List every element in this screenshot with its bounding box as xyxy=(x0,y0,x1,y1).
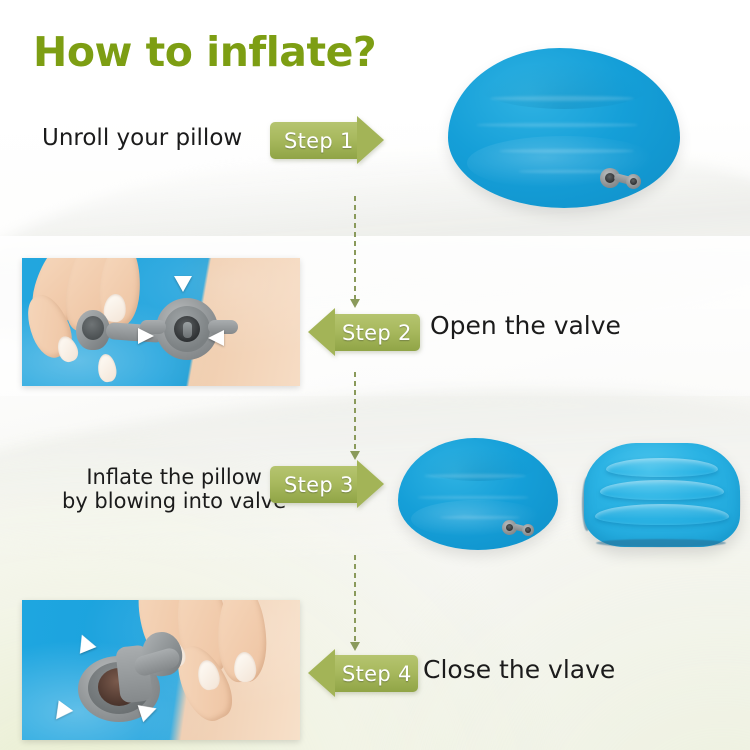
step-1-media xyxy=(448,48,680,208)
step-1-badge-label: Step 1 xyxy=(284,129,354,153)
pillow-valve xyxy=(502,520,536,537)
pillow-wrinkle xyxy=(424,474,526,478)
step-2-arrow-head-icon xyxy=(308,308,335,356)
step-2-caption: Open the valve xyxy=(430,312,621,340)
pillow-wrinkle xyxy=(417,496,529,499)
step-3-caption: Inflate the pillow by blowing into valve xyxy=(62,466,286,513)
deflated-pillow xyxy=(448,48,680,208)
step-4-badge[interactable]: Step 4 xyxy=(308,655,418,692)
step-2-media xyxy=(22,258,300,386)
inflated-pillow xyxy=(584,443,740,547)
step-4-badge-label: Step 4 xyxy=(342,662,412,686)
step-3-badge[interactable]: Step 3 xyxy=(270,466,384,503)
step-2-badge-label: Step 2 xyxy=(342,321,412,345)
connector-2-arrow-icon xyxy=(350,451,360,460)
step-1-badge[interactable]: Step 1 xyxy=(270,122,384,159)
pillow-wrinkle xyxy=(440,516,520,519)
arrow-down-icon xyxy=(174,276,192,292)
connector-1-arrow-icon xyxy=(350,299,360,308)
valve-stem xyxy=(183,322,192,338)
step-1-arrow-head-icon xyxy=(357,116,384,164)
step-4-arrow-head-icon xyxy=(308,649,335,697)
valve-cap-hole-icon xyxy=(630,178,637,185)
connector-1 xyxy=(354,196,356,300)
pillow-ridge xyxy=(600,480,725,500)
step-3-arrow-head-icon xyxy=(357,460,384,508)
pillow-valve xyxy=(600,168,644,190)
step-3-media-deflated xyxy=(398,438,558,550)
pillow-wrinkle xyxy=(499,149,634,153)
pillow-wrinkle xyxy=(490,96,634,101)
step-3-media-inflated xyxy=(578,443,746,553)
pillow-wrinkle xyxy=(476,123,638,127)
step-2-badge[interactable]: Step 2 xyxy=(308,314,420,351)
page-title: How to inflate? xyxy=(33,28,376,76)
infographic-canvas: How to inflate? Unroll your pillow Step … xyxy=(0,0,750,750)
pillow-ridge xyxy=(595,504,729,525)
arrow-left-icon xyxy=(208,330,224,346)
step-4-caption: Close the vlave xyxy=(423,656,615,684)
connector-3 xyxy=(354,555,356,643)
connector-3-arrow-icon xyxy=(350,642,360,651)
step-4-media xyxy=(22,600,300,740)
pillow-ridge xyxy=(606,458,718,477)
pillow-bottom-seam xyxy=(596,539,726,547)
valve-cap-inner xyxy=(82,316,104,340)
connector-2 xyxy=(354,372,356,452)
arrow-right-icon xyxy=(138,328,154,344)
valve-cap-hole-icon xyxy=(525,527,531,533)
step-3-badge-label: Step 3 xyxy=(284,473,354,497)
step-1-caption: Unroll your pillow xyxy=(42,126,242,152)
